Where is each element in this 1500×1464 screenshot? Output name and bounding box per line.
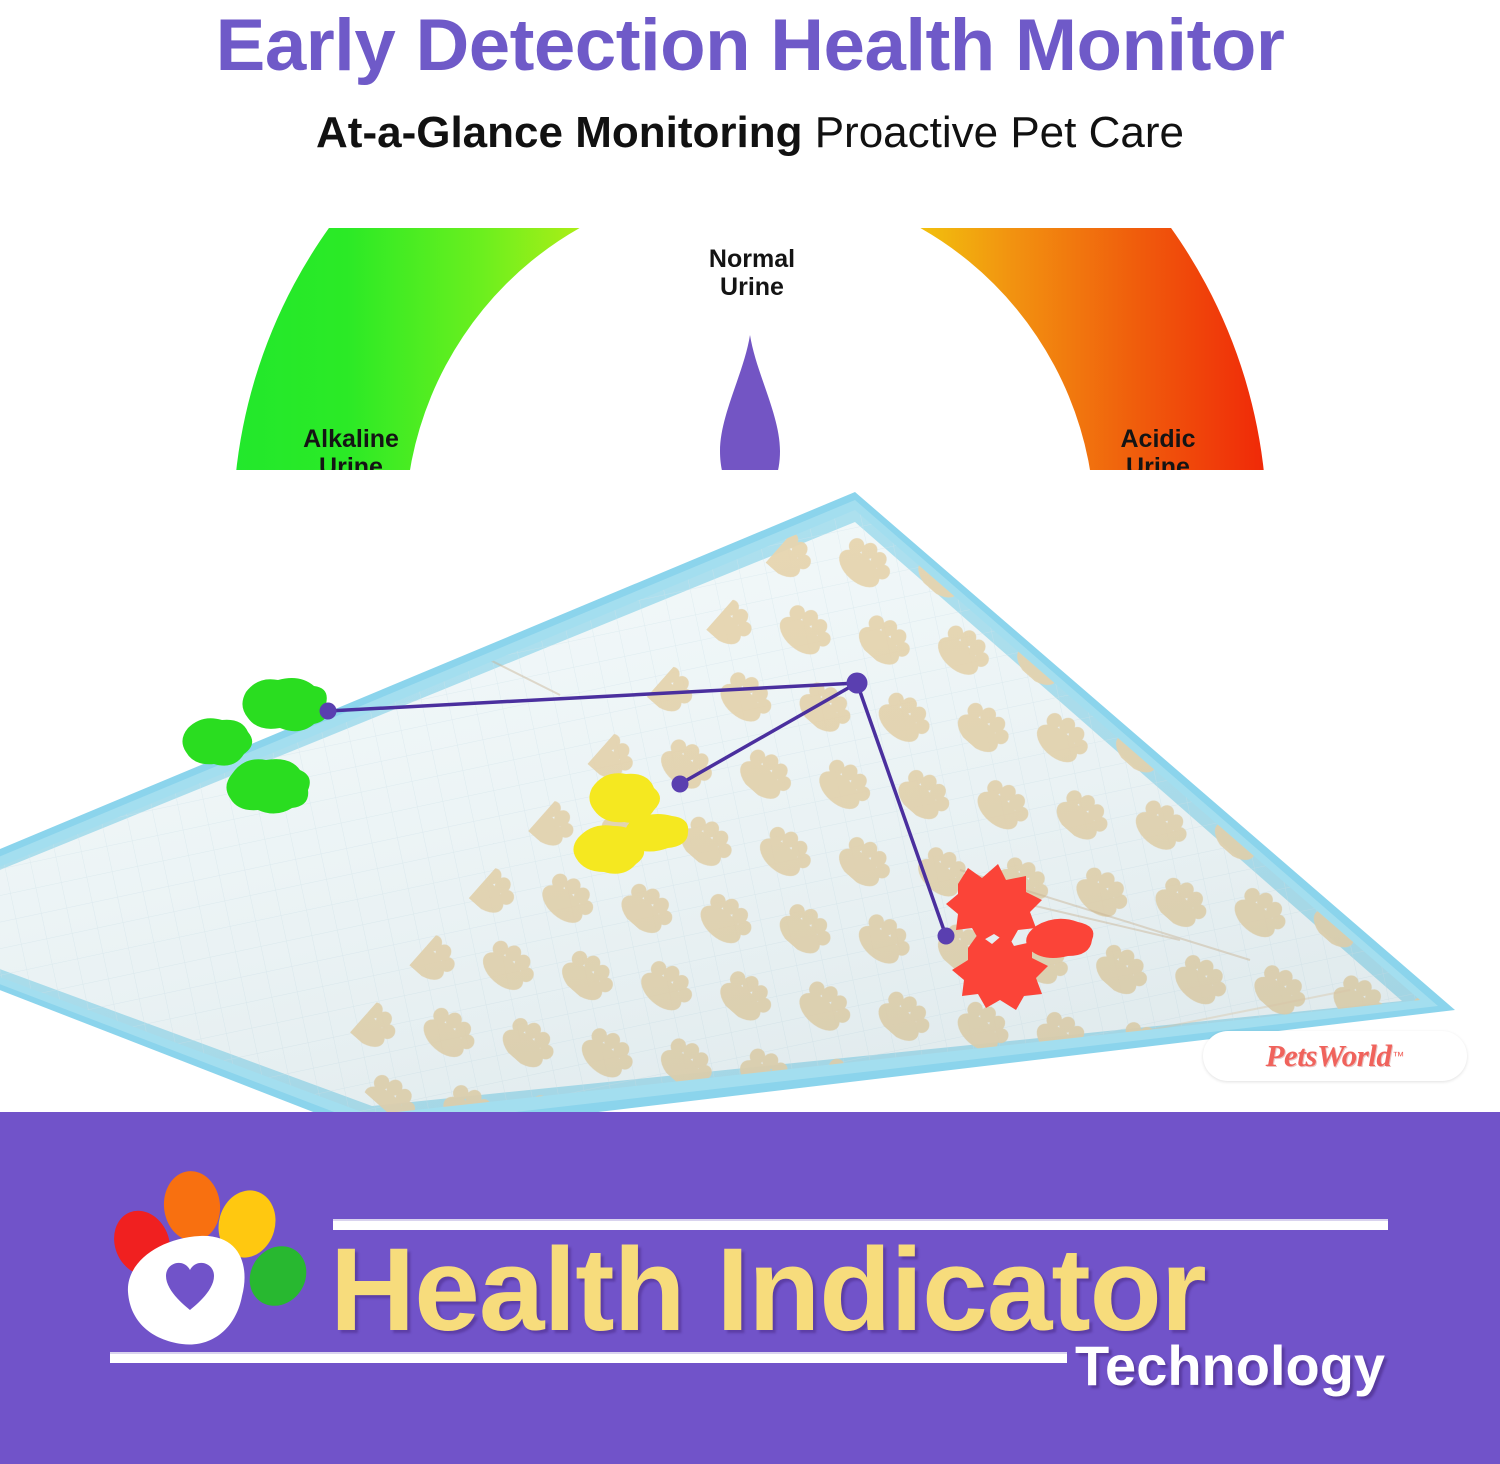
trademark-symbol: ™	[1392, 1049, 1404, 1063]
callout-dot-normal	[672, 776, 689, 793]
callout-hub-dot	[847, 673, 868, 694]
header: Early Detection Health Monitor At-a-Glan…	[0, 0, 1500, 185]
brand-name: PetsWorld	[1266, 1038, 1392, 1074]
callout-dot-alkaline	[320, 703, 337, 720]
subtitle-bold-part: At-a-Glance Monitoring	[316, 108, 802, 157]
gauge-label-normal-line2: Urine	[720, 273, 784, 301]
gauge-label-normal-line1: Normal	[709, 245, 795, 273]
paw-print-logo-icon	[108, 1158, 323, 1353]
page-title: Early Detection Health Monitor	[0, 4, 1500, 87]
banner-subline: Technology	[1075, 1333, 1415, 1398]
gauge-label-normal: Normal Urine	[652, 245, 852, 301]
gauge-label-acidic-line1: Acidic	[1120, 425, 1195, 453]
page-subtitle: At-a-Glance Monitoring Proactive Pet Car…	[0, 108, 1500, 158]
training-pad-photo	[0, 470, 1500, 1115]
banner-rule-bottom	[110, 1352, 1067, 1363]
gauge-label-alkaline-line1: Alkaline	[303, 425, 399, 453]
pad-illustration	[0, 470, 1500, 1115]
paw-toe-orange	[160, 1168, 223, 1243]
subtitle-regular-part: Proactive Pet Care	[802, 108, 1184, 157]
callout-dot-acidic	[938, 928, 955, 945]
infographic-root: Early Detection Health Monitor At-a-Glan…	[0, 0, 1500, 1464]
petsworld-logo-badge: PetsWorld™	[1203, 1031, 1467, 1081]
